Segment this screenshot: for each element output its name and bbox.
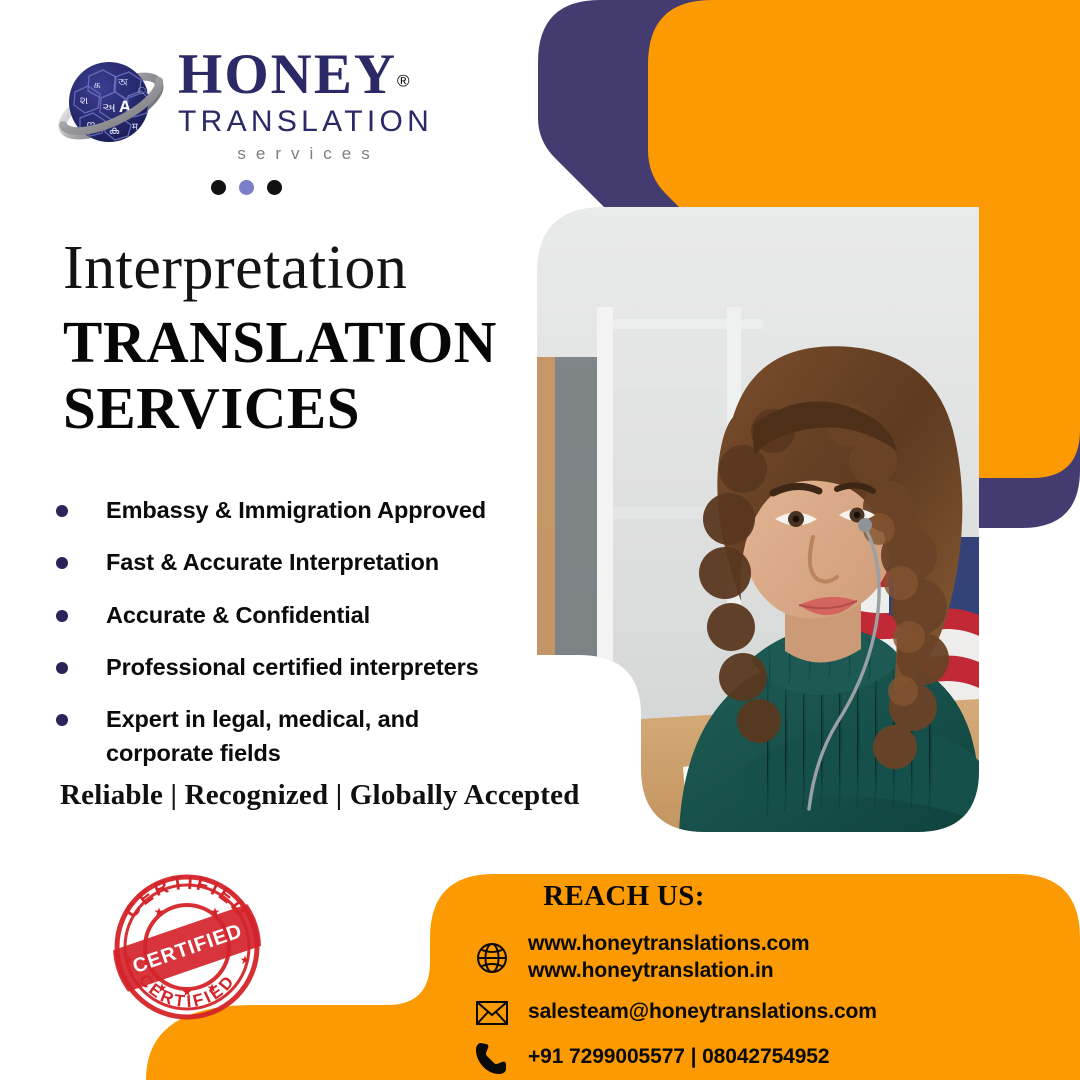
bullet-dot-icon bbox=[56, 505, 68, 517]
list-item: Embassy & Immigration Approved bbox=[56, 494, 536, 527]
email-text[interactable]: salesteam@honeytranslations.com bbox=[528, 999, 877, 1026]
globe-languages-icon: க অ ം શ અ เ ღ ക म A bbox=[56, 50, 166, 158]
page-title: Interpretation TRANSLATION SERVICES bbox=[63, 236, 497, 441]
svg-text:অ: অ bbox=[117, 76, 128, 89]
headline-script: Interpretation bbox=[63, 236, 497, 301]
list-item: Fast & Accurate Interpretation bbox=[56, 546, 536, 579]
logo-tertiary-name: services bbox=[178, 144, 433, 164]
logo-honey-text: HONEY bbox=[178, 48, 397, 102]
list-item: Accurate & Confidential bbox=[56, 599, 536, 632]
tagline: Reliable | Recognized | Globally Accepte… bbox=[60, 779, 580, 812]
bullet-dot-icon bbox=[56, 610, 68, 622]
contact-heading: REACH US: bbox=[438, 880, 810, 913]
feature-text: Professional certified interpreters bbox=[106, 651, 479, 684]
dot-black-right bbox=[267, 180, 282, 195]
headline-line-1: TRANSLATION bbox=[63, 309, 497, 375]
bullet-dot-icon bbox=[56, 557, 68, 569]
svg-text:★: ★ bbox=[182, 985, 193, 999]
svg-text:க: க bbox=[93, 78, 100, 91]
feature-text: Accurate & Confidential bbox=[106, 599, 370, 632]
certified-stamp-icon: CERTIFIED CERTIFIED CERTIFIED ★★ ★★ ★ ★★ bbox=[104, 868, 270, 1023]
interpreter-photo bbox=[537, 207, 979, 832]
list-item: Expert in legal, medical, and corporate … bbox=[56, 703, 536, 770]
svg-text:★: ★ bbox=[207, 981, 218, 995]
website-row[interactable]: www.honeytranslations.com www.honeytrans… bbox=[470, 931, 1070, 985]
bullet-dot-icon bbox=[56, 662, 68, 674]
list-item: Professional certified interpreters bbox=[56, 651, 536, 684]
svg-text:★: ★ bbox=[124, 953, 135, 967]
svg-text:★: ★ bbox=[157, 981, 168, 995]
phone-icon bbox=[470, 1041, 514, 1075]
feature-text: Embassy & Immigration Approved bbox=[106, 494, 486, 527]
svg-text:★: ★ bbox=[210, 905, 221, 919]
phone-row[interactable]: +91 7299005577 | 08042754952 bbox=[470, 1041, 1070, 1075]
svg-text:★: ★ bbox=[240, 953, 251, 967]
globe-icon bbox=[470, 941, 514, 975]
logo-secondary-name: TRANSLATION bbox=[178, 103, 433, 141]
headline-line-2: SERVICES bbox=[63, 375, 497, 441]
phone-text[interactable]: +91 7299005577 | 08042754952 bbox=[528, 1044, 829, 1071]
logo-dots bbox=[211, 180, 476, 195]
feature-text: Fast & Accurate Interpretation bbox=[106, 546, 439, 579]
feature-list: Embassy & Immigration Approved Fast & Ac… bbox=[56, 494, 536, 770]
envelope-icon bbox=[470, 999, 514, 1027]
website-line-1[interactable]: www.honeytranslations.com bbox=[528, 931, 809, 958]
website-text-group[interactable]: www.honeytranslations.com www.honeytrans… bbox=[528, 931, 809, 985]
brand-logo[interactable]: க অ ം શ અ เ ღ ക म A bbox=[56, 44, 476, 195]
dot-periwinkle bbox=[239, 180, 254, 195]
poster-canvas: க অ ം શ અ เ ღ ക म A bbox=[0, 0, 1080, 1080]
feature-text: Expert in legal, medical, and corporate … bbox=[106, 703, 446, 770]
registered-mark-icon: ® bbox=[397, 72, 410, 91]
svg-text:★: ★ bbox=[154, 905, 165, 919]
svg-text:અ: અ bbox=[102, 101, 116, 116]
headline-main: TRANSLATION SERVICES bbox=[63, 309, 497, 441]
logo-primary-name: HONEY® bbox=[178, 48, 433, 102]
svg-text:શ: શ bbox=[80, 94, 89, 107]
bullet-dot-icon bbox=[56, 714, 68, 726]
website-line-2[interactable]: www.honeytranslation.in bbox=[528, 958, 809, 985]
dot-black-left bbox=[211, 180, 226, 195]
email-row[interactable]: salesteam@honeytranslations.com bbox=[470, 999, 1070, 1027]
stamp-arc-top-text: CERTIFIED bbox=[121, 873, 253, 922]
contact-panel: REACH US: www.honeytranslations.com www.… bbox=[470, 880, 1070, 1075]
svg-text:म: म bbox=[132, 122, 139, 133]
